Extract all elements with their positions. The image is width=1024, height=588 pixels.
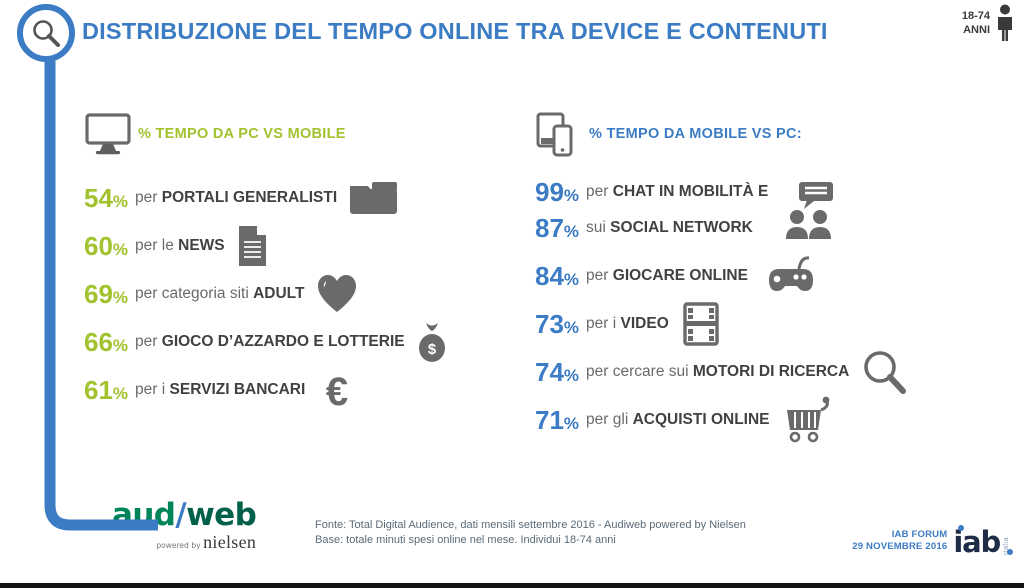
slide-header: DISTRIBUZIONE DEL TEMPO ONLINE TRA DEVIC… xyxy=(0,0,1024,62)
document-icon xyxy=(236,224,270,268)
source-line-1: Fonte: Total Digital Audience, dati mens… xyxy=(315,518,746,533)
film-strip-icon xyxy=(680,301,722,347)
gamepad-icon xyxy=(759,255,815,297)
left-column-header-label: % TEMPO DA PC VS MOBILE xyxy=(138,126,346,142)
age-unit-label: ANNI xyxy=(962,23,990,37)
stat-pair-rows: 99% per CHAT IN MOBILITÀ E 87% sui SOCIA… xyxy=(535,174,779,246)
stat-label: per gli ACQUISTI ONLINE xyxy=(586,411,769,429)
stat-row: 73% per i VIDEO xyxy=(535,300,1015,348)
magnifier-icon xyxy=(17,4,75,62)
stat-label: per cercare sui MOTORI DI RICERCA xyxy=(586,363,849,381)
stat-percent: 71% xyxy=(535,407,579,433)
stat-percent: 84% xyxy=(535,263,579,289)
iab-event-name: IAB FORUM xyxy=(852,529,947,541)
right-column-header: % TEMPO DA MOBILE VS PC: xyxy=(535,108,1015,160)
stat-label: per i VIDEO xyxy=(586,315,669,333)
stat-row: 84% per GIOCARE ONLINE xyxy=(535,252,1015,300)
stat-label: per PORTALI GENERALISTI xyxy=(135,189,337,207)
stat-pair-group: 99% per CHAT IN MOBILITÀ E 87% sui SOCIA… xyxy=(535,174,1015,246)
iab-dot-bottom-icon xyxy=(1007,549,1013,555)
stat-percent: 87% xyxy=(535,215,579,241)
chat-people-icon xyxy=(779,179,841,241)
source-line-2: Base: totale minuti spesi online nel mes… xyxy=(315,533,746,548)
svg-text:$: $ xyxy=(427,341,436,358)
person-icon xyxy=(994,4,1016,42)
stat-label: per i SERVIZI BANCARI xyxy=(135,381,305,399)
iab-logo: iab italia xyxy=(953,530,1010,555)
stat-row: 87% sui SOCIAL NETWORK xyxy=(535,210,779,246)
money-bag-icon: $ xyxy=(416,320,448,364)
tablet-phone-icon xyxy=(535,111,589,157)
right-column-header-label: % TEMPO DA MOBILE VS PC: xyxy=(589,126,802,142)
stat-label: per categoria siti ADULT xyxy=(135,285,304,303)
stat-percent: 73% xyxy=(535,311,579,337)
iab-event-info: IAB FORUM 29 NOVEMBRE 2016 xyxy=(852,529,947,555)
shopping-cart-icon xyxy=(781,396,835,444)
stat-row: 71% per gli ACQUISTI ONLINE xyxy=(535,396,1015,444)
stat-label: per GIOCO D’AZZARDO E LOTTERIE xyxy=(135,333,405,351)
euro-icon: € xyxy=(316,368,358,412)
source-note: Fonte: Total Digital Audience, dati mens… xyxy=(315,518,746,548)
stat-label: per GIOCARE ONLINE xyxy=(586,267,748,285)
folder-icon xyxy=(348,178,400,218)
audiweb-slash: / xyxy=(175,497,186,533)
stat-label: sui SOCIAL NETWORK xyxy=(586,219,753,237)
iab-event-date: 29 NOVEMBRE 2016 xyxy=(852,541,947,553)
age-badge: 18-74 ANNI xyxy=(962,4,1016,42)
stat-percent: 74% xyxy=(535,359,579,385)
age-range-label: 18-74 xyxy=(962,9,990,23)
right-column-mobile: % TEMPO DA MOBILE VS PC: 99% per CHAT IN… xyxy=(535,108,1015,444)
infographic-slide: DISTRIBUZIONE DEL TEMPO ONLINE TRA DEVIC… xyxy=(0,0,1024,588)
iab-forum-block: IAB FORUM 29 NOVEMBRE 2016 iab italia xyxy=(852,529,1010,555)
search-icon xyxy=(860,348,908,396)
stat-row: 99% per CHAT IN MOBILITÀ E xyxy=(535,174,779,210)
stat-percent: 99% xyxy=(535,179,579,205)
connector-line xyxy=(40,50,160,540)
stat-row: 74% per cercare sui MOTORI DI RICERCA xyxy=(535,348,1015,396)
page-title: DISTRIBUZIONE DEL TEMPO ONLINE TRA DEVIC… xyxy=(82,18,828,45)
heart-icon xyxy=(315,272,359,316)
stat-label: per CHAT IN MOBILITÀ E xyxy=(586,183,768,201)
svg-text:€: € xyxy=(326,370,348,412)
